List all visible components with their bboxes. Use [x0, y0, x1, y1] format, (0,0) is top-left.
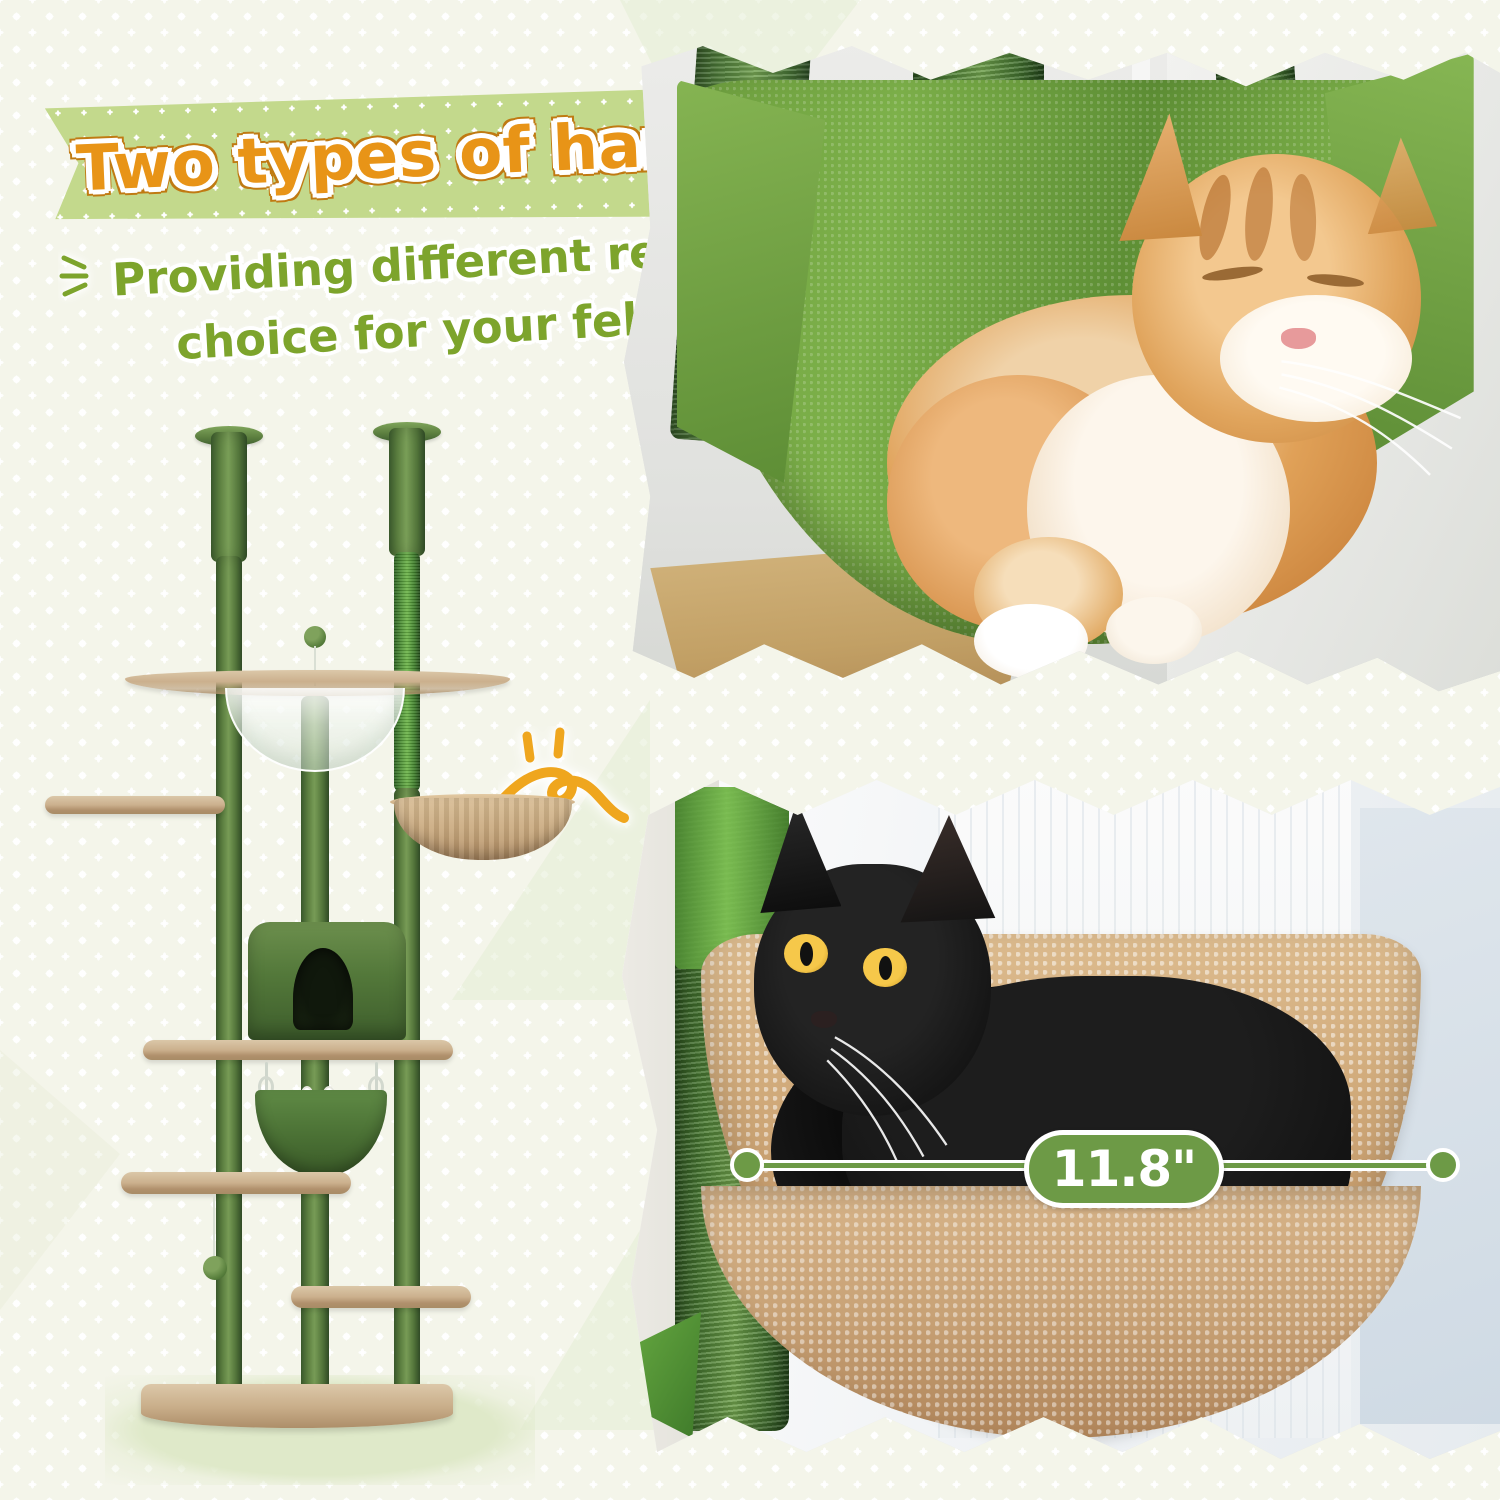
base-icon: [141, 1384, 453, 1428]
post-right-upper: [389, 428, 425, 556]
measure-dot-icon-left: [730, 1148, 764, 1182]
measure-dot-icon-right: [1426, 1148, 1460, 1182]
ball-string-lower: [213, 1194, 215, 1260]
round-platform-icon-mid: [143, 1040, 453, 1060]
measurement-badge: 11.8": [1024, 1130, 1224, 1208]
cat-tree-illustration: [85, 400, 555, 1480]
photo-orange-cat: [624, 26, 1500, 698]
dome-bowl-icon: [225, 688, 405, 772]
hammock-icon: [255, 1090, 387, 1176]
pom-ball-icon-top: [304, 626, 326, 648]
pom-ball-icon-lower: [203, 1256, 227, 1280]
post-left-upper: [211, 432, 247, 562]
measurement-indicator: 11.8": [730, 1130, 1460, 1210]
photo-black-cat-basket: [622, 766, 1500, 1466]
basket-icon: [394, 798, 572, 860]
shelf-icon-step: [291, 1286, 471, 1308]
measurement-value: 11.8": [1052, 1144, 1196, 1194]
photo-orange-cat-hammock: [624, 26, 1500, 698]
shelf-icon-lower: [121, 1172, 351, 1194]
shelf-icon-left: [45, 796, 225, 814]
